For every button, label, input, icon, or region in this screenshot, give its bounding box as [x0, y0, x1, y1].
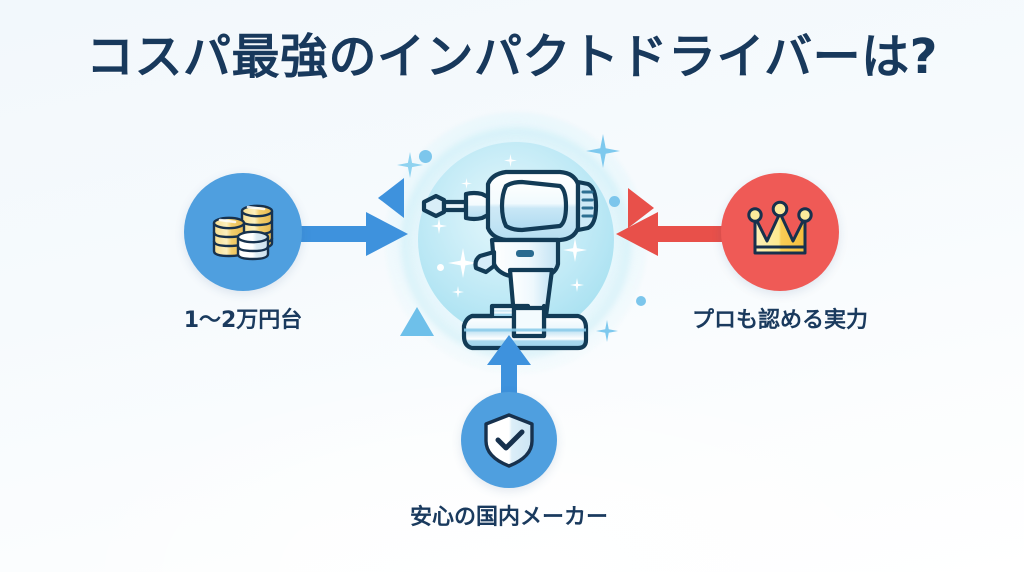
node-maker-caption: 安心の国内メーカー: [393, 504, 625, 532]
coin-stack-icon: [206, 195, 280, 269]
crown-icon: [743, 195, 817, 269]
infographic-canvas: コスパ最強のインパクトドライバーは?: [0, 0, 1024, 572]
node-pro-caption: プロも認める実力: [663, 307, 897, 335]
node-pro-circle[interactable]: [721, 173, 839, 291]
dot-icon: [636, 296, 646, 306]
arrow-left-to-center: [300, 206, 410, 262]
page-title: コスパ最強のインパクトドライバーは?: [0, 28, 1024, 86]
impact-driver-icon: [410, 140, 622, 352]
node-price-caption: 1〜2万円台: [136, 307, 350, 335]
node-price-circle[interactable]: [184, 173, 302, 291]
shield-check-icon: [479, 410, 539, 470]
arrow-right-to-center: [614, 206, 724, 262]
node-maker-circle[interactable]: [461, 392, 557, 488]
